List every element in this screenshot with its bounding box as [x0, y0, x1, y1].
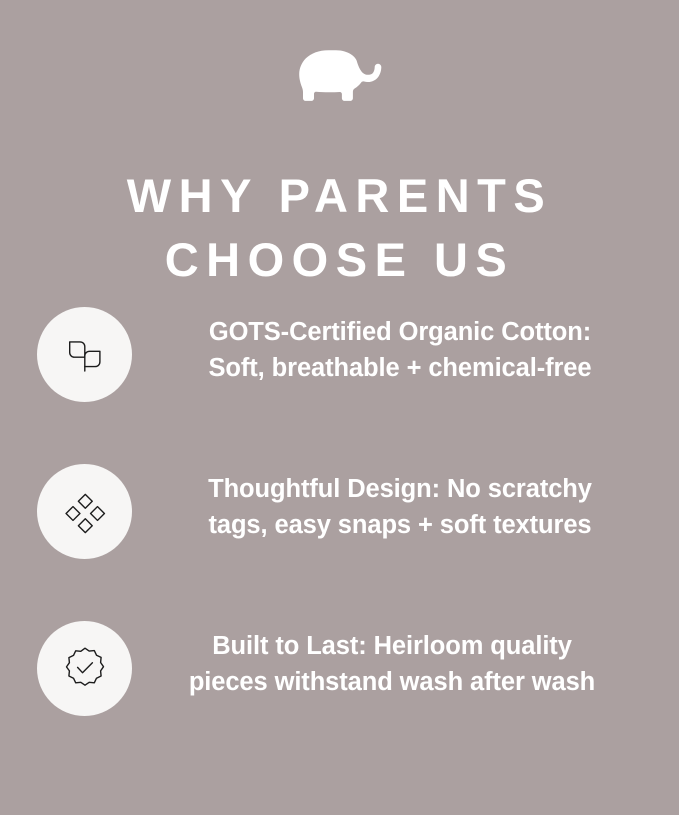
- four-diamonds-icon: [61, 488, 109, 536]
- benefit-icon-badge: [37, 621, 132, 716]
- benefit-text: Thoughtful Design: No scratchy tags, eas…: [150, 471, 650, 543]
- why-parents-choose-us-panel: WHY PARENTS CHOOSE US GOTS-Certified Org…: [0, 0, 679, 815]
- benefit-text: Built to Last: Heirloom quality pieces w…: [142, 628, 642, 700]
- benefit-icon-badge: [37, 464, 132, 559]
- page-title: WHY PARENTS CHOOSE US: [0, 164, 679, 292]
- brand-logo: [0, 38, 679, 110]
- benefit-item-built-to-last: Built to Last: Heirloom quality pieces w…: [0, 614, 679, 771]
- elephant-icon: [292, 42, 388, 106]
- benefits-list: GOTS-Certified Organic Cotton: Soft, bre…: [0, 300, 679, 771]
- benefit-item-thoughtful-design: Thoughtful Design: No scratchy tags, eas…: [0, 457, 679, 614]
- benefit-text: GOTS-Certified Organic Cotton: Soft, bre…: [150, 314, 650, 386]
- benefit-icon-badge: [37, 307, 132, 402]
- scalloped-check-badge-icon: [59, 643, 111, 695]
- sprout-leaf-icon: [61, 331, 109, 379]
- benefit-item-organic-cotton: GOTS-Certified Organic Cotton: Soft, bre…: [0, 300, 679, 457]
